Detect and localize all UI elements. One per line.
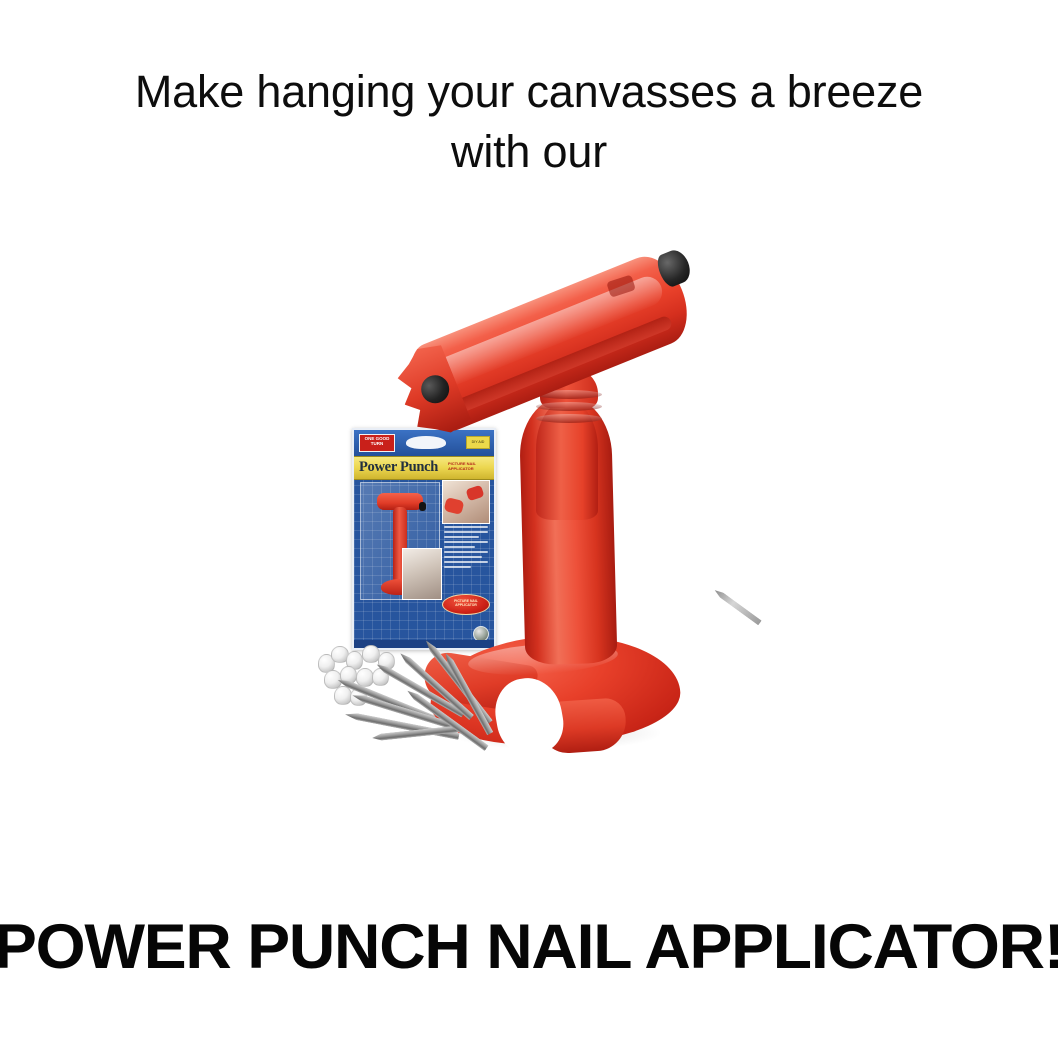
- product-photo: ONE GOOD TURN DIY AID Power Punch PICTUR…: [300, 248, 730, 848]
- steel-nails-group: [310, 656, 570, 821]
- product-title: POWER PUNCH NAIL APPLICATOR!: [0, 914, 1058, 980]
- headline-text: Make hanging your canvasses a breeze wit…: [0, 62, 1058, 182]
- poster-canvas: Make hanging your canvasses a breeze wit…: [0, 0, 1058, 1058]
- tool-loaded-nail: [713, 588, 762, 626]
